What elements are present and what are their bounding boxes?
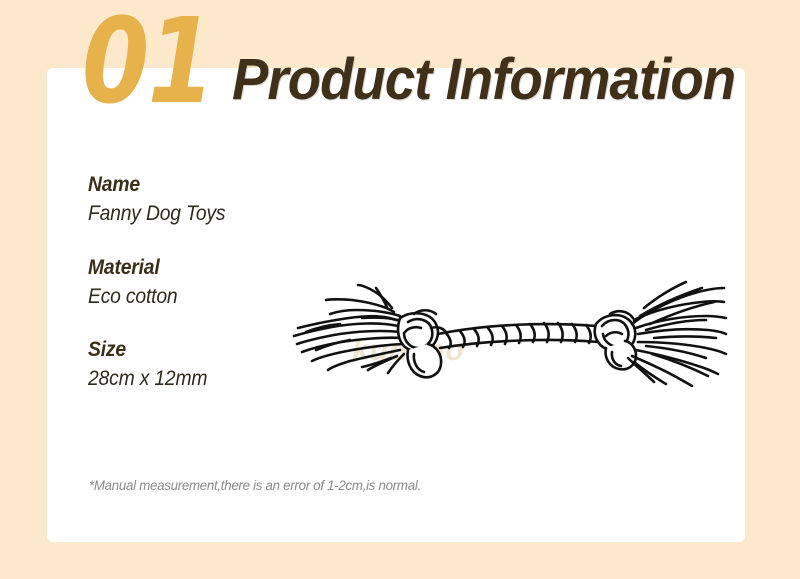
spec-label-name: Name: [88, 172, 309, 198]
rope-toy-icon: [288, 262, 728, 387]
measurement-note: *Manual measurement,there is an error of…: [89, 477, 421, 493]
spec-value-material: Eco cotton: [88, 283, 309, 311]
spec-row-name: Name Fanny Dog Toys: [88, 172, 328, 229]
spec-list: Name Fanny Dog Toys Material Eco cotton …: [88, 172, 328, 394]
product-illustration: [288, 262, 728, 387]
spec-label-size: Size: [88, 337, 309, 363]
spec-label-material: Material: [88, 255, 309, 281]
page-title: Product Information: [232, 51, 735, 109]
spec-row-size: Size 28cm x 12mm: [88, 337, 328, 394]
section-number: 01: [82, 2, 213, 120]
spec-row-material: Material Eco cotton: [88, 255, 328, 312]
spec-value-size: 28cm x 12mm: [88, 365, 309, 393]
spec-value-name: Fanny Dog Toys: [88, 200, 309, 228]
